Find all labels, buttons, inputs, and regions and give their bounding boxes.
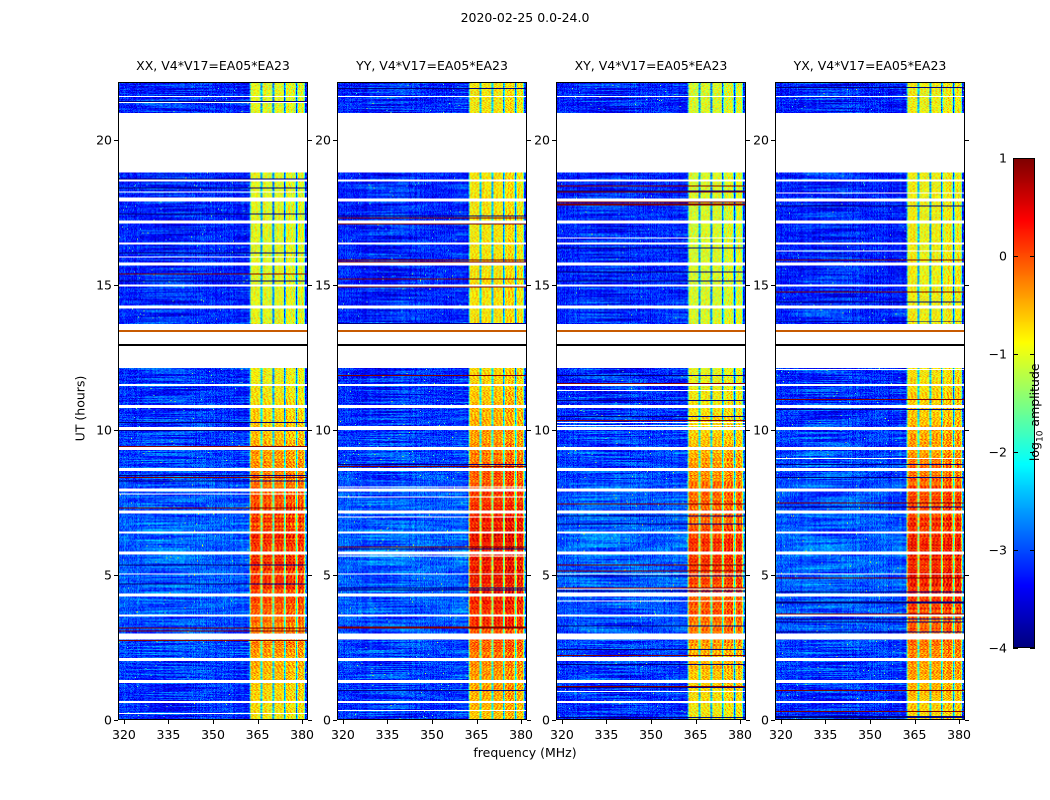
y-tick-label-1-0: 0 [291,713,331,728]
y-tick-mark-in-3-4 [965,140,969,141]
x-tick-label-1-0: 320 [321,727,365,742]
y-tick-mark-in-3-1 [965,575,969,576]
y-tick-mark-2-3 [552,285,556,286]
x-tick-label-0-2: 350 [191,727,235,742]
y-tick-mark-2-4 [552,140,556,141]
y-tick-label-2-3: 15 [510,278,550,293]
waterfall-panel-xy [556,82,746,720]
x-tick-mark-2-2 [651,720,652,724]
y-tick-mark-in-3-2 [965,430,969,431]
y-tick-label-3-0: 0 [729,713,769,728]
x-tick-mark-2-0 [562,720,563,724]
x-tick-label-3-2: 350 [848,727,892,742]
y-tick-label-2-4: 20 [510,133,550,148]
x-tick-mark-2-1 [606,720,607,724]
x-tick-mark-3-2 [870,720,871,724]
x-tick-label-3-4: 380 [937,727,981,742]
x-tick-mark-3-1 [825,720,826,724]
x-tick-label-3-1: 335 [803,727,847,742]
y-tick-mark-3-0 [771,720,775,721]
y-tick-mark-1-3 [333,285,337,286]
x-tick-label-3-0: 320 [759,727,803,742]
y-tick-mark-3-1 [771,575,775,576]
colorbar-label-sub: 10 [1035,431,1045,442]
colorbar-tick-mark-l-2 [1013,452,1018,453]
y-tick-mark-3-4 [771,140,775,141]
x-tick-label-1-1: 335 [365,727,409,742]
y-tick-mark-1-2 [333,430,337,431]
y-tick-label-2-1: 5 [510,568,550,583]
colorbar-tick-label-1: −3 [975,543,1007,558]
x-tick-mark-3-0 [781,720,782,724]
y-tick-label-1-3: 15 [291,278,331,293]
colorbar-tick-mark-2 [1030,452,1035,453]
figure-root: 2020-02-25 0.0-24.0 XX, V4*V17=EA05*EA23… [0,0,1050,800]
y-tick-mark-3-2 [771,430,775,431]
x-axis-label: frequency (MHz) [0,745,1050,760]
colorbar-tick-label-3: −1 [975,347,1007,362]
colorbar-tick-mark-5 [1030,158,1035,159]
y-tick-mark-3-3 [771,285,775,286]
y-tick-label-0-3: 15 [72,278,112,293]
x-tick-mark-1-2 [432,720,433,724]
y-tick-label-3-1: 5 [729,568,769,583]
y-tick-mark-0-2 [114,430,118,431]
panel-title-yx: YX, V4*V17=EA05*EA23 [735,58,1005,76]
x-tick-mark-3-4 [959,720,960,724]
x-tick-mark-1-1 [387,720,388,724]
y-tick-label-3-3: 15 [729,278,769,293]
y-tick-mark-2-1 [552,575,556,576]
x-tick-label-0-1: 335 [146,727,190,742]
x-tick-mark-0-3 [258,720,259,724]
y-tick-mark-2-0 [552,720,556,721]
waterfall-panel-yx [775,82,965,720]
y-tick-mark-1-1 [333,575,337,576]
colorbar-tick-mark-l-1 [1013,550,1018,551]
x-tick-label-0-0: 320 [102,727,146,742]
x-tick-label-2-2: 350 [629,727,673,742]
y-tick-mark-0-1 [114,575,118,576]
colorbar-tick-mark-0 [1030,648,1035,649]
colorbar-tick-label-4: 0 [975,249,1007,264]
waterfall-panel-xx [118,82,308,720]
x-tick-label-1-3: 365 [455,727,499,742]
y-tick-mark-1-4 [333,140,337,141]
x-tick-label-2-4: 380 [718,727,762,742]
x-tick-mark-0-1 [168,720,169,724]
y-tick-label-0-1: 5 [72,568,112,583]
x-tick-label-0-3: 365 [236,727,280,742]
x-tick-mark-0-2 [213,720,214,724]
x-tick-mark-1-3 [477,720,478,724]
y-tick-label-3-2: 10 [729,423,769,438]
y-tick-label-2-2: 10 [510,423,550,438]
x-tick-label-2-1: 335 [584,727,628,742]
colorbar-tick-mark-l-4 [1013,256,1018,257]
y-axis-label: UT (hours) [73,319,88,499]
y-tick-mark-in-3-0 [965,720,969,721]
x-tick-mark-0-0 [124,720,125,724]
y-tick-mark-2-2 [552,430,556,431]
colorbar-tick-mark-4 [1030,256,1035,257]
colorbar-tick-mark-1 [1030,550,1035,551]
x-tick-label-0-4: 380 [280,727,324,742]
x-tick-mark-3-3 [915,720,916,724]
y-tick-label-1-1: 5 [291,568,331,583]
y-tick-label-0-4: 20 [72,133,112,148]
colorbar-label: log10 amplitude [1027,312,1046,512]
y-tick-mark-1-0 [333,720,337,721]
colorbar-tick-mark-l-3 [1013,354,1018,355]
colorbar-tick-mark-l-5 [1013,158,1018,159]
x-tick-mark-2-3 [696,720,697,724]
y-tick-label-0-2: 10 [72,423,112,438]
colorbar-tick-mark-3 [1030,354,1035,355]
colorbar-tick-label-0: −4 [975,641,1007,656]
colorbar-tick-mark-l-0 [1013,648,1018,649]
colorbar-tick-label-2: −2 [975,445,1007,460]
y-tick-mark-0-4 [114,140,118,141]
y-tick-label-2-0: 0 [510,713,550,728]
y-tick-label-3-4: 20 [729,133,769,148]
y-tick-label-1-4: 20 [291,133,331,148]
x-tick-label-3-3: 365 [893,727,937,742]
y-tick-mark-0-0 [114,720,118,721]
y-tick-mark-0-3 [114,285,118,286]
colorbar-label-suffix: amplitude [1027,363,1042,430]
x-tick-label-1-4: 380 [499,727,543,742]
y-tick-label-1-2: 10 [291,423,331,438]
y-tick-mark-in-3-3 [965,285,969,286]
colorbar-tick-label-5: 1 [975,151,1007,166]
y-tick-label-0-0: 0 [72,713,112,728]
figure-suptitle: 2020-02-25 0.0-24.0 [0,10,1050,25]
waterfall-panel-yy [337,82,527,720]
x-tick-label-1-2: 350 [410,727,454,742]
x-tick-label-2-0: 320 [540,727,584,742]
x-tick-label-2-3: 365 [674,727,718,742]
x-tick-mark-1-0 [343,720,344,724]
